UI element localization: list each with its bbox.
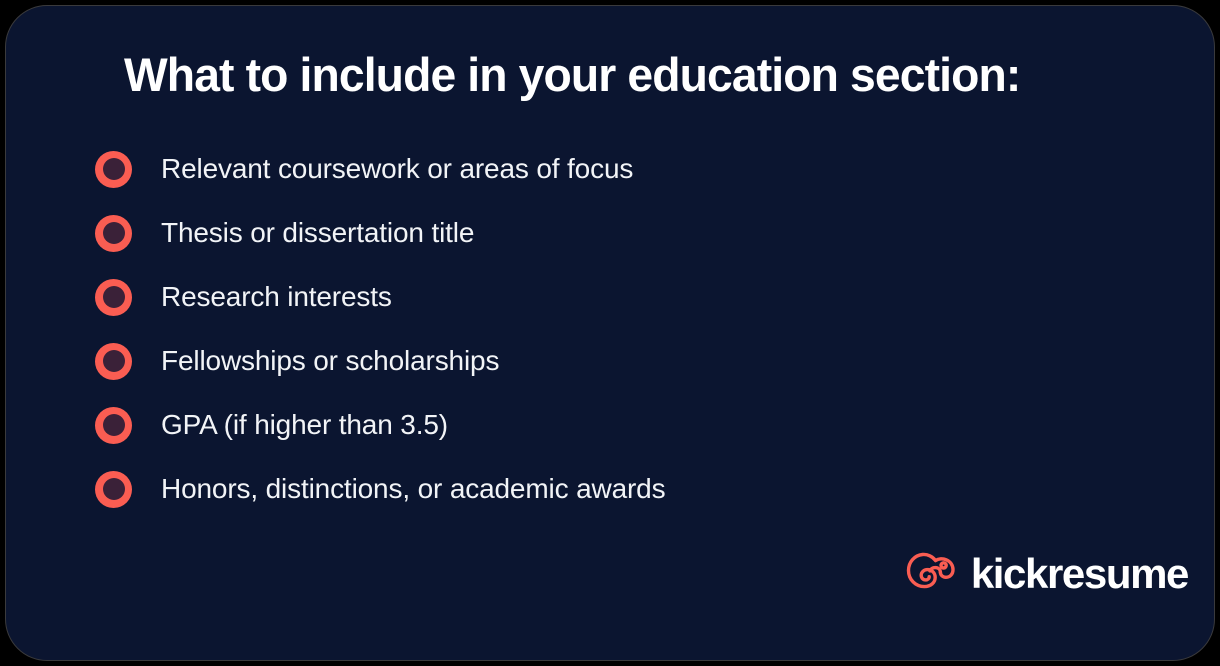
list-item: Honors, distinctions, or academic awards: [95, 467, 1095, 511]
ring-bullet-icon: [95, 279, 132, 316]
ring-bullet-center: [103, 478, 125, 500]
ring-bullet-center: [103, 350, 125, 372]
list-item: Research interests: [95, 275, 1095, 319]
ring-bullet-center: [103, 158, 125, 180]
ring-bullet-center: [103, 414, 125, 436]
ring-bullet-center: [103, 286, 125, 308]
education-checklist-card: What to include in your education sectio…: [5, 5, 1215, 661]
kickresume-chameleon-icon: [905, 550, 957, 598]
list-item: Relevant coursework or areas of focus: [95, 147, 1095, 191]
list-item-label: Thesis or dissertation title: [161, 216, 474, 250]
page-title: What to include in your education sectio…: [124, 46, 1109, 104]
ring-bullet-icon: [95, 471, 132, 508]
list-item-label: Research interests: [161, 280, 392, 314]
list-item-label: Relevant coursework or areas of focus: [161, 152, 633, 186]
list-item-label: GPA (if higher than 3.5): [161, 408, 448, 442]
list-item-label: Fellowships or scholarships: [161, 344, 499, 378]
ring-bullet-icon: [95, 215, 132, 252]
ring-bullet-icon: [95, 343, 132, 380]
kickresume-logo: kickresume: [905, 550, 1188, 598]
ring-bullet-center: [103, 222, 125, 244]
ring-bullet-icon: [95, 151, 132, 188]
list-item: Fellowships or scholarships: [95, 339, 1095, 383]
checklist: Relevant coursework or areas of focus Th…: [95, 147, 1095, 511]
kickresume-wordmark: kickresume: [971, 553, 1188, 595]
list-item: GPA (if higher than 3.5): [95, 403, 1095, 447]
list-item: Thesis or dissertation title: [95, 211, 1095, 255]
ring-bullet-icon: [95, 407, 132, 444]
list-item-label: Honors, distinctions, or academic awards: [161, 472, 665, 506]
